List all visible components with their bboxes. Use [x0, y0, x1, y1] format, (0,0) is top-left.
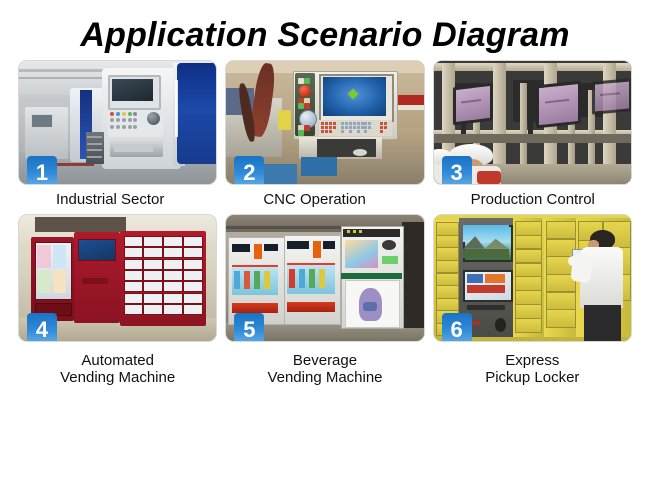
card-label-line1: Beverage [293, 352, 357, 369]
scenario-grid: 1 Industrial Sector [0, 60, 650, 387]
card-label-line2: Vending Machine [18, 369, 217, 387]
scenario-row-2: 4 Automated Vending Machine [18, 214, 632, 387]
card-label-line1: Express [505, 352, 559, 369]
scenario-card-production-control[interactable]: 3 Production Control [433, 60, 632, 211]
card-photo-automated-vending-machine: 4 [18, 214, 217, 342]
card-label-beverage-vending-machine: Beverage Vending Machine [225, 352, 424, 387]
card-badge-3: 3 [442, 156, 472, 185]
card-label-line2: Vending Machine [225, 369, 424, 387]
card-label-line1: Production Control [471, 191, 595, 208]
card-photo-production-control: 3 [433, 60, 632, 185]
card-badge-5: 5 [234, 313, 264, 342]
card-label-line2: Pickup Locker [433, 369, 632, 387]
card-photo-express-pickup-locker: 6 [433, 214, 632, 342]
card-label-cnc-operation: CNC Operation [225, 191, 424, 211]
card-photo-beverage-vending-machine: 5 [225, 214, 424, 342]
card-label-line1: Industrial Sector [56, 191, 164, 208]
card-badge-1: 1 [27, 156, 57, 185]
card-label-express-pickup-locker: Express Pickup Locker [433, 352, 632, 387]
card-label-production-control: Production Control [433, 191, 632, 211]
card-badge-2: 2 [234, 156, 264, 185]
card-label-line1: Automated [81, 352, 154, 369]
card-badge-4: 4 [27, 313, 57, 342]
scenario-card-beverage-vending-machine[interactable]: 5 Beverage Vending Machine [225, 214, 424, 387]
card-photo-cnc-operation: 2 [225, 60, 424, 185]
card-label-industrial-sector: Industrial Sector [18, 191, 217, 211]
scenario-row-1: 1 Industrial Sector [18, 60, 632, 211]
application-scenario-diagram: Application Scenario Diagram [0, 0, 650, 387]
page-title: Application Scenario Diagram [0, 0, 650, 60]
scenario-card-cnc-operation[interactable]: 2 CNC Operation [225, 60, 424, 211]
scenario-card-industrial-sector[interactable]: 1 Industrial Sector [18, 60, 217, 211]
scenario-card-automated-vending-machine[interactable]: 4 Automated Vending Machine [18, 214, 217, 387]
scenario-card-express-pickup-locker[interactable]: 6 Express Pickup Locker [433, 214, 632, 387]
card-badge-6: 6 [442, 313, 472, 342]
card-label-automated-vending-machine: Automated Vending Machine [18, 352, 217, 387]
card-label-line1: CNC Operation [263, 191, 366, 208]
card-photo-industrial-sector: 1 [18, 60, 217, 185]
